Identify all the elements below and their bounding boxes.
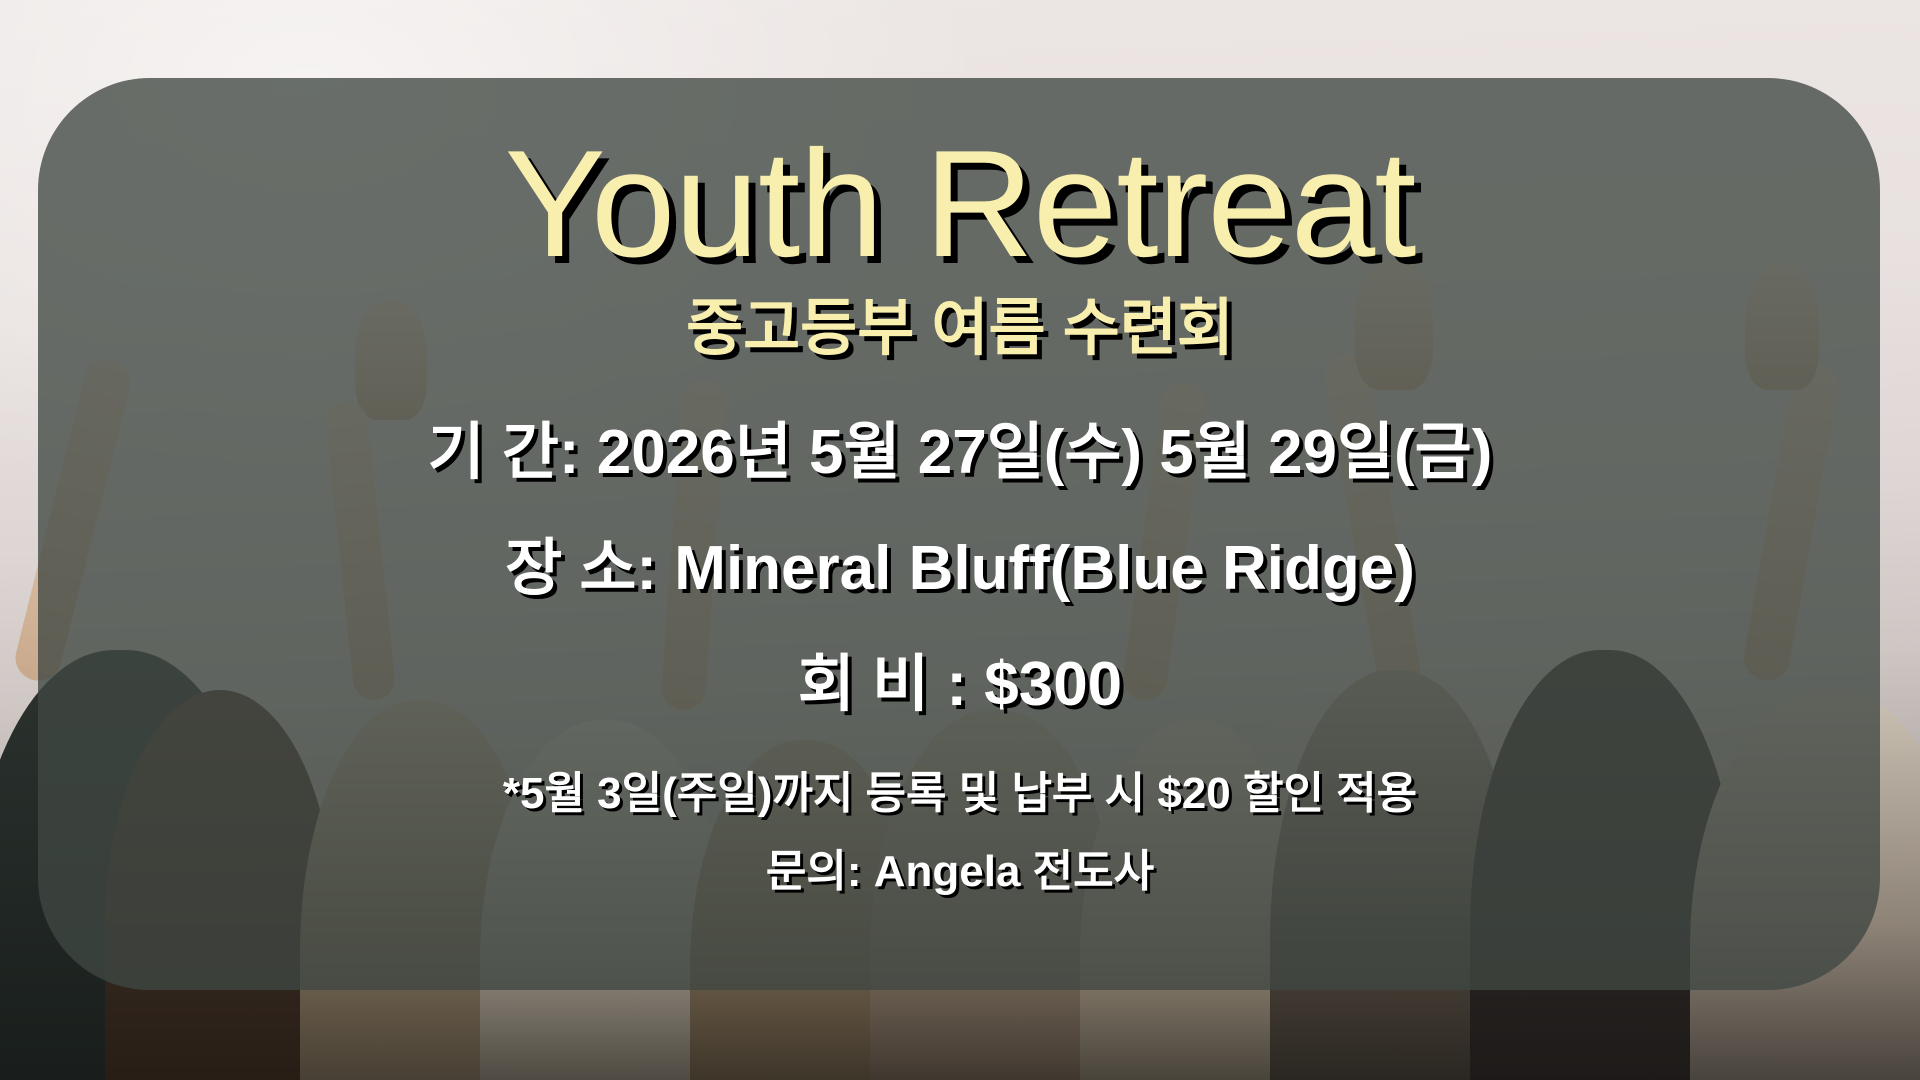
- detail-fee: 회 비 : $300: [798, 633, 1122, 723]
- detail-place: 장 소: Mineral Bluff(Blue Ridge): [505, 517, 1415, 607]
- poster-title: Youth Retreat: [505, 128, 1416, 280]
- retreat-poster: Youth Retreat 중고등부 여름 수련회 기 간: 2026년 5월 …: [0, 0, 1920, 1080]
- poster-content: Youth Retreat 중고등부 여름 수련회 기 간: 2026년 5월 …: [0, 0, 1920, 1080]
- contact-info: 문의: Angela 전도사: [766, 835, 1154, 899]
- early-registration-note: *5월 3일(주일)까지 등록 및 납부 시 $20 할인 적용: [503, 757, 1417, 821]
- detail-date: 기 간: 2026년 5월 27일(수) 5월 29일(금): [428, 401, 1493, 491]
- poster-subtitle: 중고등부 여름 수련회: [686, 294, 1234, 363]
